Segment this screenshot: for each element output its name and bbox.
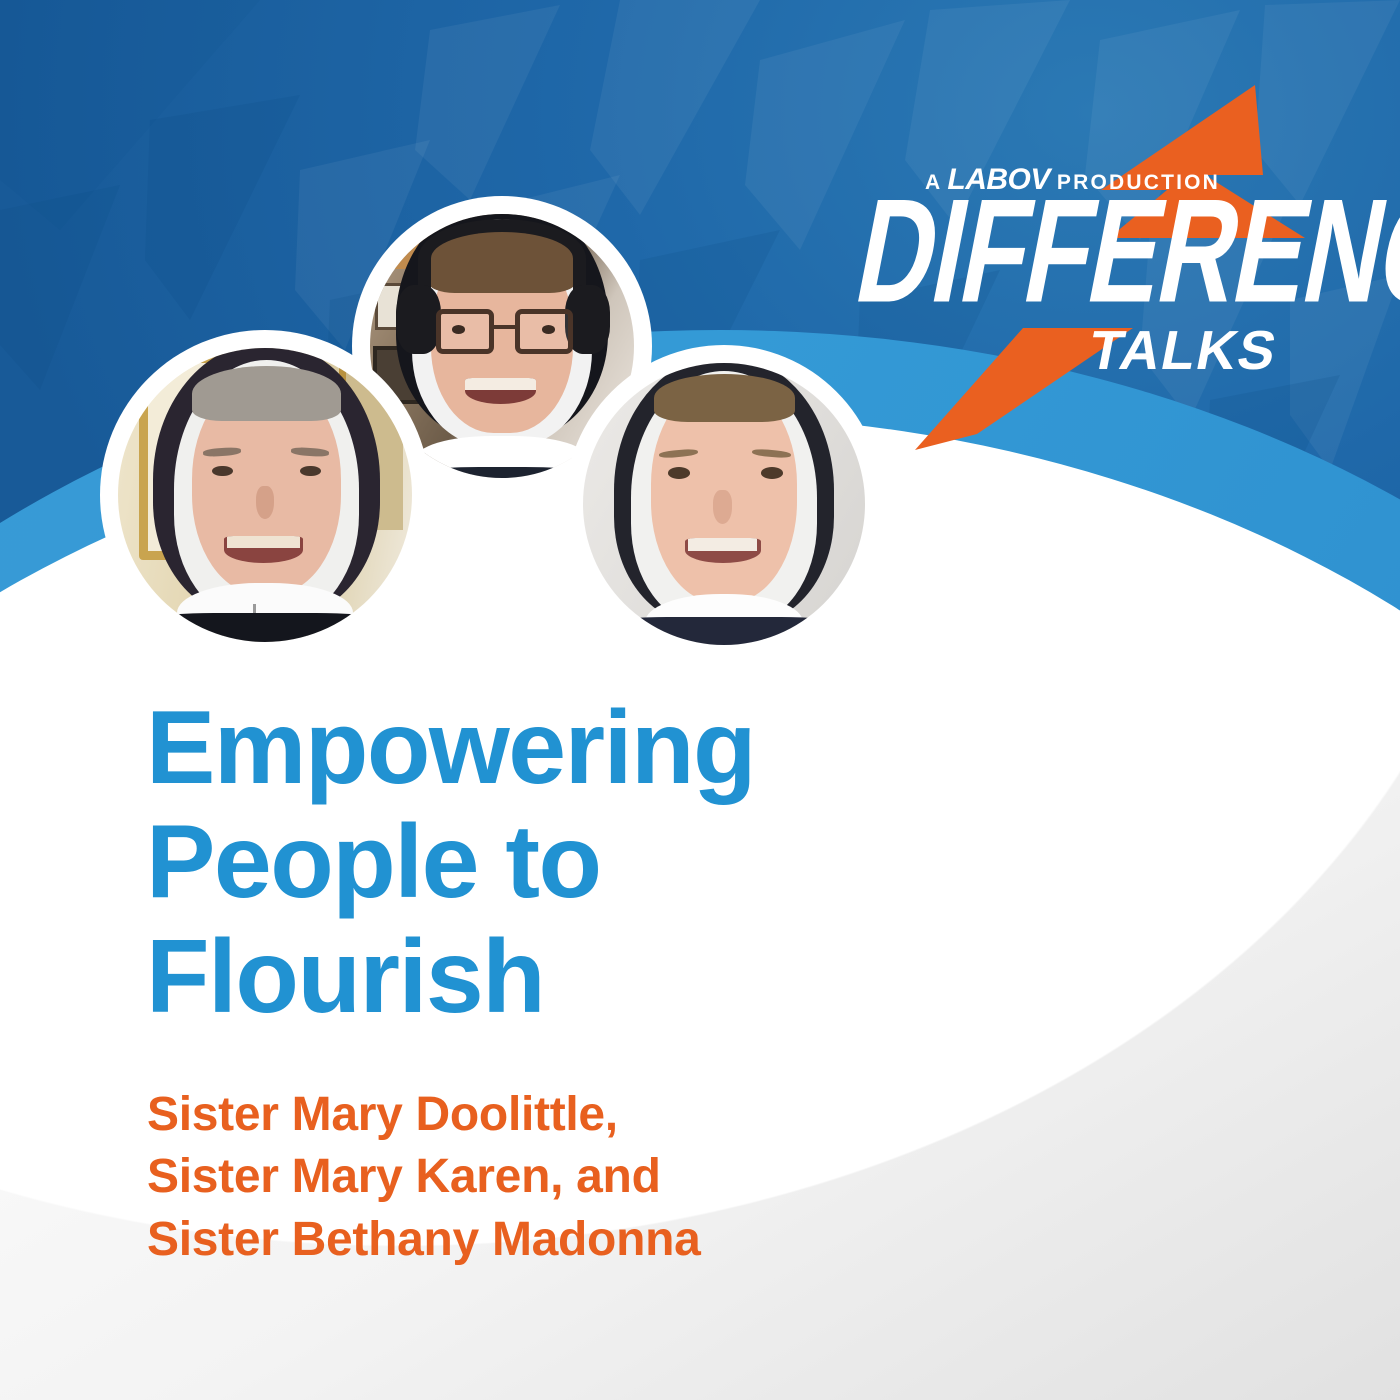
episode-title-line-3: Flourish xyxy=(146,919,544,1035)
portrait-right-photo xyxy=(583,363,865,645)
show-title-talks: TALKS xyxy=(1084,318,1283,382)
guest-names-line-3: Sister Bethany Madonna xyxy=(147,1209,967,1271)
episode-title: Empowering People to Flourish xyxy=(146,691,966,1034)
episode-title-line-2: People to xyxy=(146,804,601,920)
show-title-difference: DIFFERENCE xyxy=(846,178,1400,326)
guest-portrait-cluster xyxy=(0,0,1000,700)
portrait-left xyxy=(100,330,430,660)
guest-names-line-1: Sister Mary Doolittle, xyxy=(147,1084,967,1146)
episode-title-line-1: Empowering xyxy=(146,690,755,806)
podcast-cover-art: ALABOVPRODUCTION DIFFERENCE TALKS Empowe… xyxy=(0,0,1400,1400)
guest-names: Sister Mary Doolittle, Sister Mary Karen… xyxy=(147,1084,967,1271)
guest-names-line-2: Sister Mary Karen, and xyxy=(147,1146,967,1208)
portrait-right xyxy=(565,345,883,663)
portrait-left-photo xyxy=(118,348,412,642)
show-logo[interactable]: ALABOVPRODUCTION DIFFERENCE TALKS xyxy=(905,60,1335,460)
